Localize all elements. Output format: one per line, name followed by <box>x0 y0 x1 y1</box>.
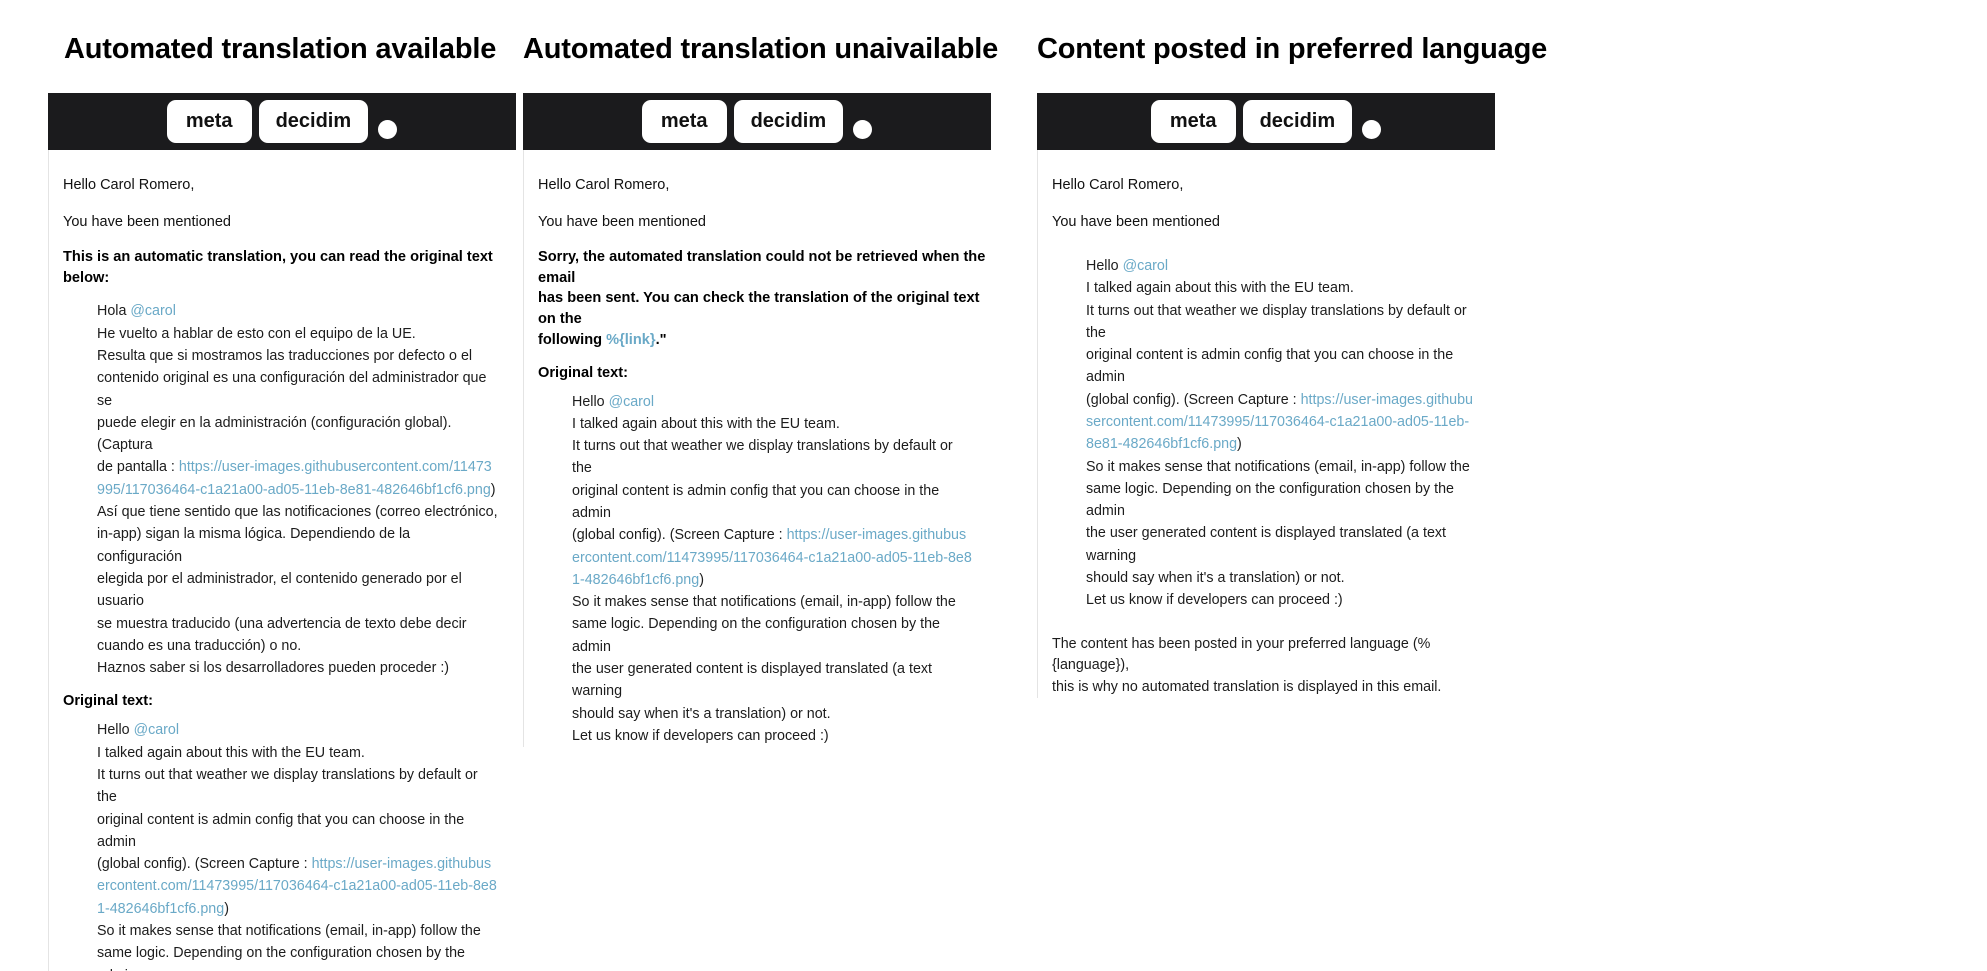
mention-carol[interactable]: @carol <box>609 394 655 410</box>
translated-link-line: de pantalla : https://user-images.github… <box>97 456 498 501</box>
original-line: the user generated content is displayed … <box>572 658 973 703</box>
warning-line: Sorry, the automated translation could n… <box>538 249 985 286</box>
original-salutation: Hello @carol <box>97 719 498 741</box>
original-line: original content is admin config that yo… <box>97 809 498 854</box>
brand-lockup: meta decidim <box>167 100 397 143</box>
brand-pill-meta: meta <box>1151 100 1236 143</box>
original-line: So it makes sense that notifications (em… <box>572 591 973 613</box>
original-salutation: Hello @carol <box>1086 255 1477 277</box>
original-text-label: Original text: <box>49 693 516 709</box>
original-line: Let us know if developers can proceed :) <box>572 725 973 747</box>
translation-lead-text: This is an automatic translation, you ca… <box>49 247 516 288</box>
greeting-text: Hello Carol Romero, <box>524 176 991 196</box>
original-salutation: Hello @carol <box>572 391 973 413</box>
original-line: So it makes sense that notifications (em… <box>1086 456 1477 478</box>
column-title: Automated translation available <box>64 32 516 67</box>
email-card: meta decidim Hello Carol Romero, You hav… <box>48 93 516 971</box>
brand-dot-icon <box>1362 120 1381 139</box>
original-line: I talked again about this with the EU te… <box>572 413 973 435</box>
translated-line: contenido original es una configuración … <box>97 367 498 412</box>
warning-line: has been sent. You can check the transla… <box>538 290 979 327</box>
original-line: So it makes sense that notifications (em… <box>97 920 498 942</box>
email-body: Hello Carol Romero, You have been mentio… <box>1037 150 1495 698</box>
original-line: same logic. Depending on the configurati… <box>572 613 973 658</box>
translation-link-token[interactable]: %{link} <box>606 332 655 348</box>
email-card: meta decidim Hello Carol Romero, You hav… <box>523 93 991 747</box>
translated-line: Haznos saber si los desarrolladores pued… <box>97 657 498 679</box>
original-line: original content is admin config that yo… <box>1086 344 1477 389</box>
email-body: Hello Carol Romero, You have been mentio… <box>523 150 991 747</box>
original-line: It turns out that weather we display tra… <box>572 435 973 480</box>
original-line: same logic. Depending on the configurati… <box>97 942 498 971</box>
original-line: I talked again about this with the EU te… <box>97 742 498 764</box>
notification-text: You have been mentioned <box>1038 213 1495 233</box>
mention-carol[interactable]: @carol <box>1123 258 1169 274</box>
email-header: meta decidim <box>48 93 516 150</box>
translated-content-block: Hola @carol He vuelto a hablar de esto c… <box>49 300 516 679</box>
brand-pill-decidim: decidim <box>259 100 369 143</box>
original-line: should say when it's a translation) or n… <box>572 703 973 725</box>
footer-line: this is why no automated translation is … <box>1052 679 1441 695</box>
column-automated-translation-available: Automated translation available meta dec… <box>48 0 516 971</box>
brand-pill-decidim: decidim <box>1243 100 1353 143</box>
translation-unavailable-warning: Sorry, the automated translation could n… <box>524 247 991 351</box>
original-content-block: Hello @carol I talked again about this w… <box>1038 255 1495 612</box>
original-link-line: (global config). (Screen Capture : https… <box>572 524 973 591</box>
original-line: I talked again about this with the EU te… <box>1086 277 1477 299</box>
translated-line: elegida por el administrador, el conteni… <box>97 568 498 613</box>
preferred-language-footer: The content has been posted in your pref… <box>1038 634 1495 698</box>
brand-pill-meta: meta <box>167 100 252 143</box>
translated-line: He vuelto a hablar de esto con el equipo… <box>97 323 498 345</box>
original-content-block: Hello @carol I talked again about this w… <box>49 719 516 971</box>
translated-line: cuando es una traducción) o no. <box>97 635 498 657</box>
notification-text: You have been mentioned <box>49 213 516 233</box>
brand-dot-icon <box>378 120 397 139</box>
email-header: meta decidim <box>523 93 991 150</box>
translated-line: puede elegir en la administración (confi… <box>97 412 498 457</box>
translated-line: Así que tiene sentido que las notificaci… <box>97 501 498 523</box>
translated-line: se muestra traducido (una advertencia de… <box>97 613 498 635</box>
warning-line-suffix: ." <box>656 332 667 348</box>
email-header: meta decidim <box>1037 93 1495 150</box>
greeting-text: Hello Carol Romero, <box>1038 176 1495 196</box>
brand-dot-icon <box>853 120 872 139</box>
original-line: It turns out that weather we display tra… <box>1086 300 1477 345</box>
column-preferred-language: Content posted in preferred language met… <box>1037 0 1495 698</box>
notification-text: You have been mentioned <box>524 213 991 233</box>
original-line: should say when it's a translation) or n… <box>1086 567 1477 589</box>
screenshot-root: Automated translation available meta dec… <box>0 0 1987 971</box>
translated-line: in-app) sigan la misma lógica. Dependien… <box>97 523 498 568</box>
brand-lockup: meta decidim <box>642 100 872 143</box>
mention-carol[interactable]: @carol <box>134 722 180 738</box>
mention-carol[interactable]: @carol <box>130 303 176 319</box>
translated-line: Resulta que si mostramos las traduccione… <box>97 345 498 367</box>
translated-salutation: Hola @carol <box>97 300 498 322</box>
column-automated-translation-unavailable: Automated translation unaivailable meta … <box>523 0 991 747</box>
footer-line: The content has been posted in your pref… <box>1052 636 1430 673</box>
brand-lockup: meta decidim <box>1151 100 1381 143</box>
original-line: It turns out that weather we display tra… <box>97 764 498 809</box>
original-content-block: Hello @carol I talked again about this w… <box>524 391 991 748</box>
column-title: Content posted in preferred language <box>1037 32 1495 67</box>
original-line: original content is admin config that yo… <box>572 480 973 525</box>
original-link-line: (global config). (Screen Capture : https… <box>97 853 498 920</box>
column-title: Automated translation unaivailable <box>523 32 991 67</box>
email-body: Hello Carol Romero, You have been mentio… <box>48 150 516 971</box>
brand-pill-decidim: decidim <box>734 100 844 143</box>
brand-pill-meta: meta <box>642 100 727 143</box>
original-line: same logic. Depending on the configurati… <box>1086 478 1477 523</box>
greeting-text: Hello Carol Romero, <box>49 176 516 196</box>
original-text-label: Original text: <box>524 365 991 381</box>
original-link-line: (global config). (Screen Capture : https… <box>1086 389 1477 456</box>
email-card: meta decidim Hello Carol Romero, You hav… <box>1037 93 1495 698</box>
warning-line-prefix: following <box>538 332 606 348</box>
original-line: Let us know if developers can proceed :) <box>1086 589 1477 611</box>
original-line: the user generated content is displayed … <box>1086 522 1477 567</box>
